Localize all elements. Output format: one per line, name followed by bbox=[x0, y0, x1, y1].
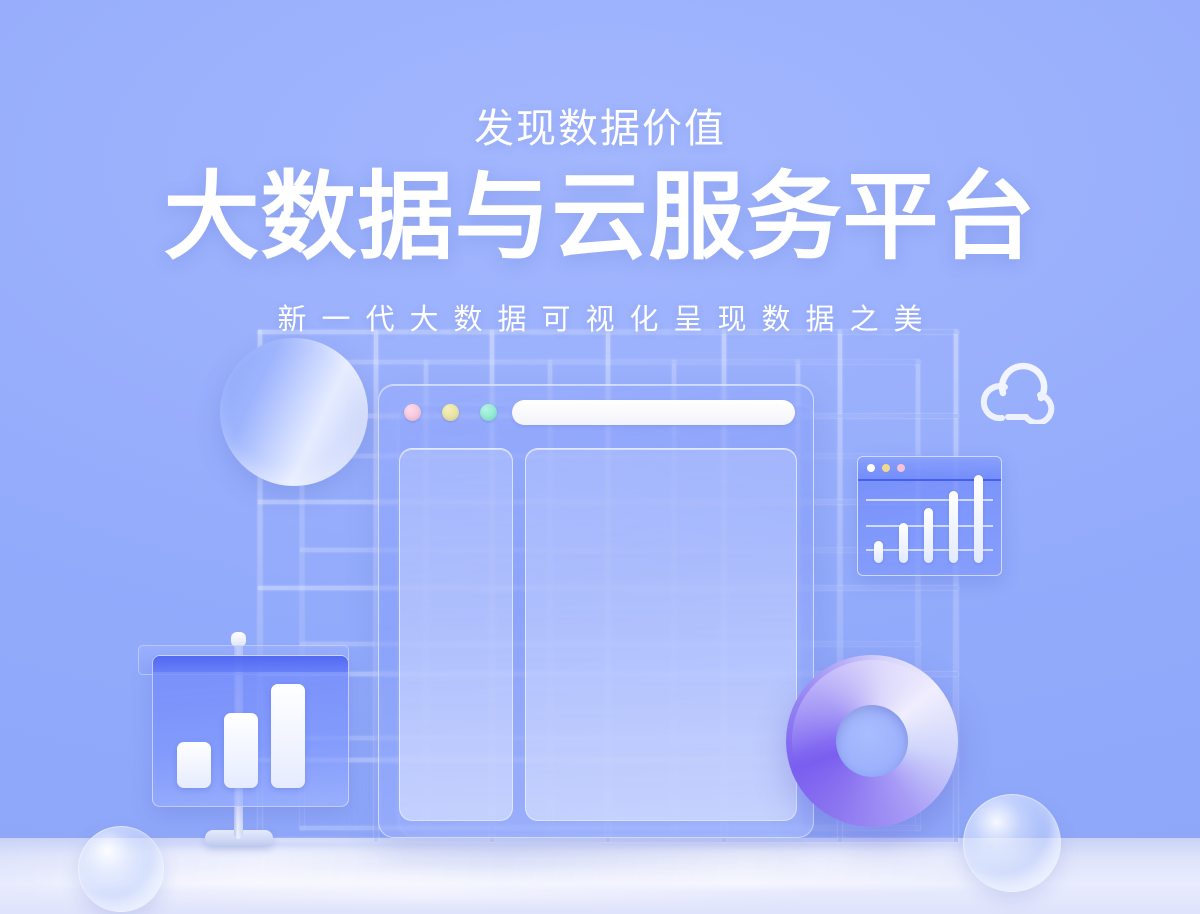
main-browser-window[interactable] bbox=[378, 384, 814, 838]
maximize-dot[interactable] bbox=[897, 464, 905, 472]
cloud-icon bbox=[978, 362, 1062, 424]
close-dot[interactable] bbox=[867, 464, 875, 472]
maximize-dot[interactable] bbox=[480, 404, 497, 421]
chart-bar bbox=[899, 523, 908, 563]
chart-bar bbox=[924, 508, 933, 563]
minimize-dot[interactable] bbox=[882, 464, 890, 472]
bar-chart-card-header bbox=[153, 656, 348, 672]
bar-chart-card[interactable] bbox=[152, 655, 349, 807]
hero-subtitle: 新一代大数据可视化呈现数据之美 bbox=[0, 296, 1200, 338]
analytics-mini-window[interactable] bbox=[857, 456, 1002, 576]
chart-bar bbox=[177, 742, 211, 788]
minimize-dot[interactable] bbox=[442, 404, 459, 421]
chart-bar bbox=[949, 491, 958, 563]
browser-titlebar bbox=[379, 385, 813, 437]
glass-sphere-left bbox=[78, 826, 164, 912]
hero-banner: 发现数据价值 大数据与云服务平台 新一代大数据可视化呈现数据之美 bbox=[0, 0, 1200, 914]
sphere-shape bbox=[220, 338, 368, 486]
hero-eyebrow: 发现数据价值 bbox=[0, 96, 1200, 154]
close-dot[interactable] bbox=[404, 404, 421, 421]
sidebar-panel[interactable] bbox=[399, 448, 513, 821]
chart-bar bbox=[974, 475, 983, 563]
content-panel[interactable] bbox=[525, 448, 797, 821]
torus-shape bbox=[786, 655, 958, 827]
chart-bar bbox=[224, 713, 258, 788]
glass-sphere-right bbox=[963, 794, 1061, 892]
page-title: 大数据与云服务平台 bbox=[0, 168, 1200, 269]
chart-bar bbox=[271, 684, 305, 788]
chart-bar bbox=[874, 541, 883, 563]
address-bar-input[interactable] bbox=[512, 400, 795, 425]
